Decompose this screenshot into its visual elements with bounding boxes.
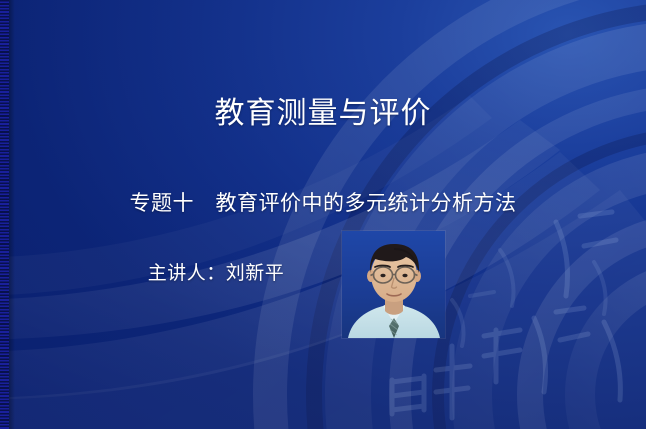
presenter-label: 主讲人：刘新平 (96, 262, 336, 286)
presentation-slide: 教育测量与评价 专题十 教育评价中的多元统计分析方法 主讲人：刘新平 (0, 0, 646, 429)
page-title: 教育测量与评价 (0, 96, 646, 132)
slide-text-layer: 教育测量与评价 专题十 教育评价中的多元统计分析方法 主讲人：刘新平 (0, 0, 646, 429)
slide-subtitle: 专题十 教育评价中的多元统计分析方法 (0, 190, 646, 216)
